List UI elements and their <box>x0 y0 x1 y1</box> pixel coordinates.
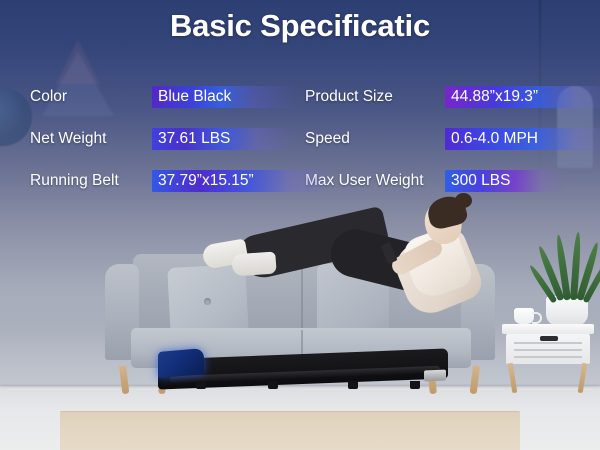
spec-label: Net Weight <box>30 130 152 148</box>
spec-row: Running Belt 37.79”x15.15” Max User Weig… <box>30 160 578 202</box>
spec-item-speed: Speed 0.6-4.0 MPH <box>305 128 578 150</box>
spec-row: Net Weight 37.61 LBS Speed 0.6-4.0 MPH <box>30 118 578 160</box>
spec-value: 37.61 LBS <box>158 130 230 147</box>
spec-label: Product Size <box>305 88 445 106</box>
spec-value: 44.88”x19.3” <box>451 88 538 105</box>
spec-value: 37.79”x15.15” <box>158 172 254 189</box>
spec-value-badge: Blue Black <box>152 86 237 108</box>
page-title: Basic Specificatic <box>0 8 600 44</box>
spec-item-net-weight: Net Weight 37.61 LBS <box>30 128 305 150</box>
spec-value: 0.6-4.0 MPH <box>451 130 538 147</box>
specifications-grid: Color Blue Black Product Size 44.88”x19.… <box>30 76 578 202</box>
spec-value: Blue Black <box>158 88 231 105</box>
spec-item-product-size: Product Size 44.88”x19.3” <box>305 86 578 108</box>
spec-value-badge: 44.88”x19.3” <box>445 86 544 108</box>
spec-item-running-belt: Running Belt 37.79”x15.15” <box>30 170 305 192</box>
spec-label: Color <box>30 88 152 106</box>
spec-label: Speed <box>305 130 445 148</box>
spec-value-badge: 0.6-4.0 MPH <box>445 128 544 150</box>
spec-value-badge: 37.61 LBS <box>152 128 236 150</box>
specifications-overlay: Basic Specificatic Color Blue Black Prod… <box>0 0 600 450</box>
spec-item-max-user-weight: Max User Weight 300 LBS <box>305 170 578 192</box>
spec-value-badge: 37.79”x15.15” <box>152 170 260 192</box>
spec-label: Running Belt <box>30 172 152 190</box>
spec-value-badge: 300 LBS <box>445 170 516 192</box>
spec-item-color: Color Blue Black <box>30 86 305 108</box>
spec-value: 300 LBS <box>451 172 510 189</box>
product-spec-banner: Basic Specificatic Color Blue Black Prod… <box>0 0 600 450</box>
spec-row: Color Blue Black Product Size 44.88”x19.… <box>30 76 578 118</box>
